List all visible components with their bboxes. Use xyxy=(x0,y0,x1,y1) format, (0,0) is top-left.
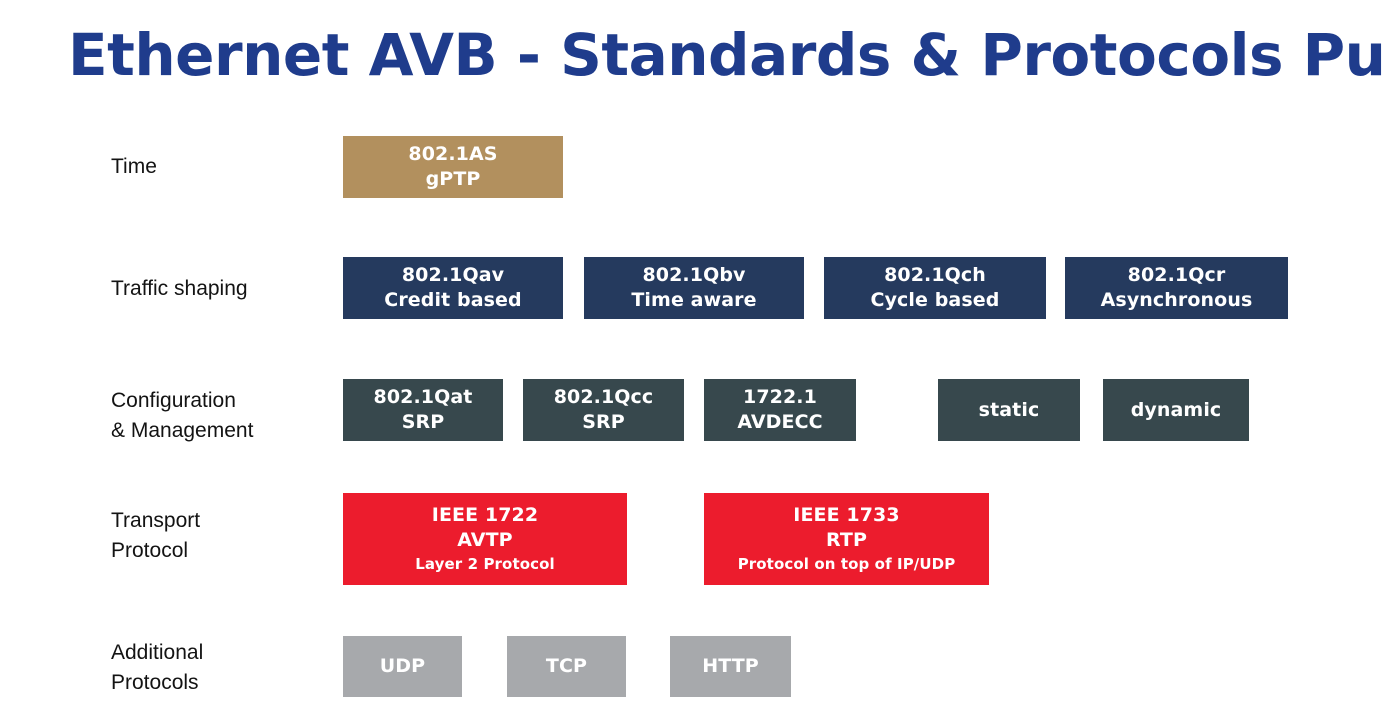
row-label-transport-protocol: Transport Protocol xyxy=(111,506,336,566)
row-label-line2: Protocols xyxy=(111,668,336,698)
box-line-1: HTTP xyxy=(702,654,759,679)
row-label-time: Time xyxy=(111,152,336,182)
row-label-line1: Transport xyxy=(111,506,336,536)
box-ieee-1733[interactable]: IEEE 1733 RTP Protocol on top of IP/UDP xyxy=(704,493,989,585)
slide-canvas: Ethernet AVB - Standards & Protocols Puz… xyxy=(0,0,1386,709)
box-line-1: 802.1Qcr xyxy=(1128,263,1226,288)
box-802-1qcc[interactable]: 802.1Qcc SRP xyxy=(523,379,684,441)
box-802-1qcr[interactable]: 802.1Qcr Asynchronous xyxy=(1065,257,1288,319)
box-line-2: Asynchronous xyxy=(1101,288,1253,313)
box-802-1as[interactable]: 802.1AS gPTP xyxy=(343,136,563,198)
box-line-1: TCP xyxy=(546,654,587,679)
box-udp[interactable]: UDP xyxy=(343,636,462,697)
box-line-1: 802.1Qbv xyxy=(642,263,745,288)
box-line-1: UDP xyxy=(380,654,425,679)
box-tcp[interactable]: TCP xyxy=(507,636,626,697)
row-label-traffic-shaping: Traffic shaping xyxy=(111,274,336,304)
box-line-2: Cycle based xyxy=(871,288,1000,313)
box-802-1qch[interactable]: 802.1Qch Cycle based xyxy=(824,257,1046,319)
box-1722-1[interactable]: 1722.1 AVDECC xyxy=(704,379,856,441)
box-line-2: SRP xyxy=(402,410,445,435)
row-label-line1: Time xyxy=(111,152,336,182)
box-line-1: 802.1Qat xyxy=(374,385,473,410)
box-line-1: 802.1Qch xyxy=(884,263,986,288)
row-label-configuration-management: Configuration & Management xyxy=(111,386,336,446)
box-line-1: 1722.1 xyxy=(743,385,817,410)
box-line-2: gPTP xyxy=(426,167,481,192)
box-line-1: 802.1AS xyxy=(408,142,497,167)
box-line-2: Time aware xyxy=(631,288,756,313)
box-802-1qat[interactable]: 802.1Qat SRP xyxy=(343,379,503,441)
row-label-line1: Traffic shaping xyxy=(111,274,336,304)
row-label-line1: Configuration xyxy=(111,386,336,416)
box-line-1: IEEE 1733 xyxy=(793,503,899,528)
box-line-1: dynamic xyxy=(1131,398,1222,423)
box-line-3: Protocol on top of IP/UDP xyxy=(738,553,956,575)
row-label-line2: & Management xyxy=(111,416,336,446)
row-label-additional-protocols: Additional Protocols xyxy=(111,638,336,698)
box-line-2: AVTP xyxy=(457,528,512,553)
box-ieee-1722[interactable]: IEEE 1722 AVTP Layer 2 Protocol xyxy=(343,493,627,585)
box-line-2: RTP xyxy=(826,528,867,553)
box-dynamic[interactable]: dynamic xyxy=(1103,379,1249,441)
row-label-line2: Protocol xyxy=(111,536,336,566)
box-802-1qav[interactable]: 802.1Qav Credit based xyxy=(343,257,563,319)
box-line-1: 802.1Qav xyxy=(402,263,504,288)
box-line-1: IEEE 1722 xyxy=(432,503,538,528)
box-line-1: static xyxy=(979,398,1040,423)
box-line-3: Layer 2 Protocol xyxy=(415,553,555,575)
box-802-1qbv[interactable]: 802.1Qbv Time aware xyxy=(584,257,804,319)
box-http[interactable]: HTTP xyxy=(670,636,791,697)
box-static[interactable]: static xyxy=(938,379,1080,441)
page-title: Ethernet AVB - Standards & Protocols Puz… xyxy=(68,26,1328,84)
box-line-2: Credit based xyxy=(384,288,521,313)
box-line-1: 802.1Qcc xyxy=(554,385,654,410)
box-line-2: SRP xyxy=(582,410,625,435)
box-line-2: AVDECC xyxy=(737,410,822,435)
row-label-line1: Additional xyxy=(111,638,336,668)
